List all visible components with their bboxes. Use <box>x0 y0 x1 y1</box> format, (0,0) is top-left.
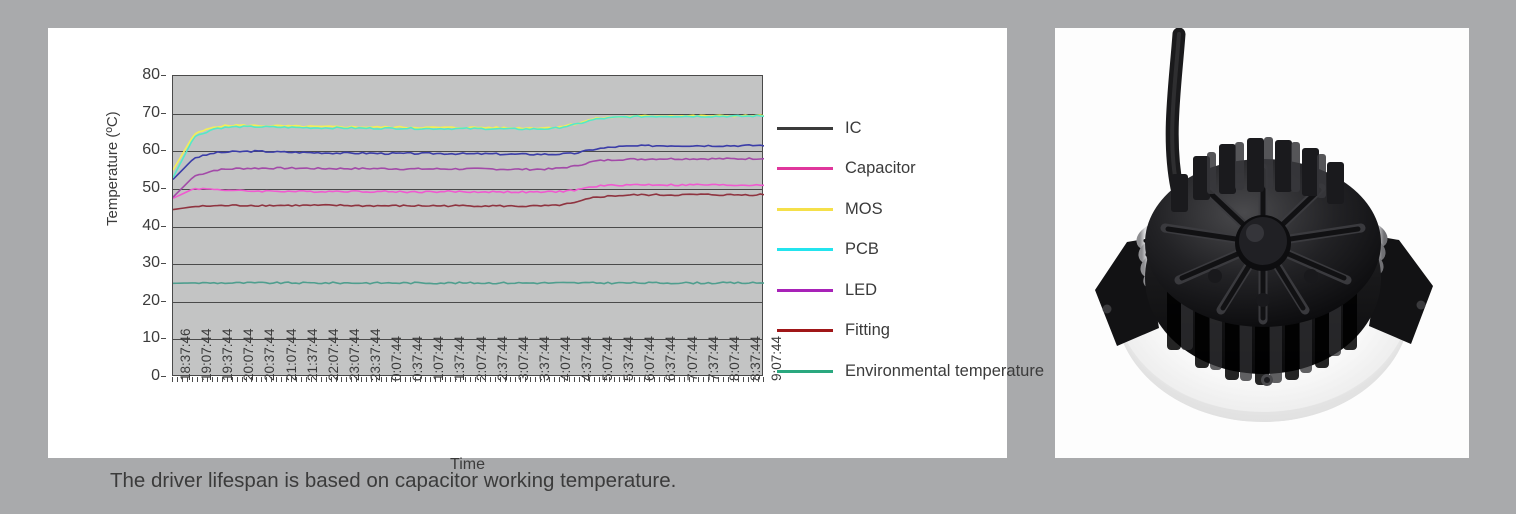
x-tick-mark <box>366 377 367 382</box>
x-tick-label: 6:37:44 <box>663 336 678 381</box>
x-tick-mark <box>286 377 287 382</box>
x-tick-label: 7:07:44 <box>685 336 700 381</box>
x-tick-mark <box>669 377 670 382</box>
y-tick-mark <box>161 150 166 151</box>
x-tick-label: 23:07:44 <box>347 328 362 381</box>
x-tick-label: 8:37:44 <box>748 336 763 381</box>
x-tick-mark <box>679 377 680 382</box>
x-tick-mark <box>376 377 377 382</box>
x-tick-mark <box>649 377 650 382</box>
x-tick-mark <box>584 377 585 382</box>
x-tick-mark <box>197 377 198 382</box>
caption-text: The driver lifespan is based on capacito… <box>110 469 676 493</box>
x-tick-label: 0:07:44 <box>389 336 404 381</box>
legend-swatch <box>777 127 833 130</box>
y-tick-mark <box>161 113 166 114</box>
y-tick-label: 20 <box>142 292 160 310</box>
x-tick-mark <box>554 377 555 382</box>
x-tick-mark <box>530 377 531 382</box>
x-tick-mark <box>276 377 277 382</box>
x-tick-mark <box>604 377 605 382</box>
x-tick-label: 4:37:44 <box>579 336 594 381</box>
x-tick-mark <box>395 377 396 382</box>
legend-swatch <box>777 167 833 170</box>
x-tick-mark <box>251 377 252 382</box>
x-tick-mark <box>291 377 292 382</box>
legend-item-mos[interactable]: MOS <box>777 189 1077 230</box>
x-tick-mark <box>693 377 694 382</box>
x-tick-mark <box>266 377 267 382</box>
x-tick-mark <box>222 377 223 382</box>
legend-label: PCB <box>845 240 879 259</box>
x-tick-mark <box>336 377 337 382</box>
x-tick-mark <box>192 377 193 382</box>
plot-area <box>172 75 763 376</box>
x-tick-mark <box>256 377 257 382</box>
legend-item-pcb[interactable]: PCB <box>777 230 1077 271</box>
x-tick-mark <box>212 377 213 382</box>
x-tick-mark <box>659 377 660 382</box>
x-tick-mark <box>430 377 431 382</box>
y-tick-label: 0 <box>151 367 160 385</box>
x-tick-label: 23:37:44 <box>368 328 383 381</box>
x-tick-mark <box>634 377 635 382</box>
y-tick-label: 50 <box>142 179 160 197</box>
x-tick-mark <box>574 377 575 382</box>
legend-item-led[interactable]: LED <box>777 270 1077 311</box>
y-tick-mark <box>161 338 166 339</box>
x-tick-mark <box>743 377 744 382</box>
x-tick-mark <box>490 377 491 382</box>
y-tick-label: 80 <box>142 66 160 84</box>
x-tick-mark <box>619 377 620 382</box>
legend-swatch <box>777 370 833 373</box>
x-tick-mark <box>435 377 436 382</box>
x-tick-mark <box>326 377 327 382</box>
legend-swatch <box>777 329 833 332</box>
x-tick-mark <box>391 377 392 382</box>
legend-swatch <box>777 289 833 292</box>
x-tick-mark <box>480 377 481 382</box>
x-tick-mark <box>425 377 426 382</box>
x-tick-mark <box>698 377 699 382</box>
x-tick-mark <box>246 377 247 382</box>
led-downlight-heatsink-icon <box>1055 28 1469 458</box>
x-tick-mark <box>182 377 183 382</box>
x-tick-mark <box>341 377 342 382</box>
x-tick-mark <box>356 377 357 382</box>
legend-item-environmental-temperature[interactable]: Environmental temperature <box>777 351 1077 392</box>
x-tick-mark <box>654 377 655 382</box>
x-tick-mark <box>485 377 486 382</box>
x-tick-mark <box>708 377 709 382</box>
legend-label: Fitting <box>845 321 890 340</box>
x-tick-mark <box>217 377 218 382</box>
y-tick-label: 40 <box>142 217 160 235</box>
legend-swatch <box>777 208 833 211</box>
x-tick-label: 20:07:44 <box>241 328 256 381</box>
x-tick-mark <box>624 377 625 382</box>
x-tick-mark <box>371 377 372 382</box>
y-tick-mark <box>161 75 166 76</box>
x-tick-mark <box>386 377 387 382</box>
legend-item-ic[interactable]: IC <box>777 108 1077 149</box>
x-tick-mark <box>738 377 739 382</box>
x-tick-mark <box>450 377 451 382</box>
x-tick-label: 1:37:44 <box>452 336 467 381</box>
x-tick-label: 19:37:44 <box>220 328 235 381</box>
x-tick-mark <box>559 377 560 382</box>
x-tick-mark <box>261 377 262 382</box>
x-tick-label: 8:07:44 <box>727 336 742 381</box>
chart-legend: ICCapacitorMOSPCBLEDFittingEnvironmental… <box>777 108 1077 392</box>
series-line-environmental-temperature <box>173 282 764 284</box>
x-tick-mark <box>520 377 521 382</box>
y-tick-mark <box>161 226 166 227</box>
x-tick-label: 21:37:44 <box>305 328 320 381</box>
x-tick-mark <box>177 377 178 382</box>
x-axis-ticks: 18:37:4619:07:4419:37:4420:07:4420:37:44… <box>172 377 763 457</box>
y-tick-label: 30 <box>142 254 160 272</box>
x-tick-label: 20:37:44 <box>262 328 277 381</box>
y-tick-mark <box>161 376 166 377</box>
x-tick-label: 21:07:44 <box>284 328 299 381</box>
x-tick-mark <box>689 377 690 382</box>
x-tick-mark <box>306 377 307 382</box>
x-tick-mark <box>748 377 749 382</box>
x-tick-mark <box>405 377 406 382</box>
x-tick-mark <box>758 377 759 382</box>
x-tick-mark <box>351 377 352 382</box>
x-tick-mark <box>564 377 565 382</box>
x-tick-mark <box>525 377 526 382</box>
x-tick-mark <box>187 377 188 382</box>
x-tick-mark <box>381 377 382 382</box>
legend-label: IC <box>845 119 862 138</box>
x-tick-mark <box>321 377 322 382</box>
x-tick-mark <box>400 377 401 382</box>
x-tick-mark <box>415 377 416 382</box>
x-tick-mark <box>753 377 754 382</box>
y-axis-ticks: 01020304050607080 <box>126 75 166 376</box>
x-tick-mark <box>684 377 685 382</box>
x-tick-mark <box>535 377 536 382</box>
legend-swatch <box>777 248 833 251</box>
x-tick-mark <box>296 377 297 382</box>
y-tick-label: 70 <box>142 104 160 122</box>
x-tick-label: 22:07:44 <box>326 328 341 381</box>
x-tick-mark <box>361 377 362 382</box>
x-tick-mark <box>505 377 506 382</box>
x-tick-mark <box>495 377 496 382</box>
x-tick-label: 19:07:44 <box>199 328 214 381</box>
legend-label: MOS <box>845 200 883 219</box>
x-tick-mark <box>718 377 719 382</box>
x-tick-mark <box>674 377 675 382</box>
x-tick-label: 7:37:44 <box>706 336 721 381</box>
x-tick-mark <box>202 377 203 382</box>
x-tick-mark <box>445 377 446 382</box>
x-tick-mark <box>331 377 332 382</box>
x-tick-mark <box>301 377 302 382</box>
x-tick-mark <box>410 377 411 382</box>
x-tick-mark <box>271 377 272 382</box>
x-tick-mark <box>440 377 441 382</box>
series-line-mos <box>173 115 764 170</box>
x-tick-mark <box>475 377 476 382</box>
x-tick-mark <box>589 377 590 382</box>
x-tick-label: 5:37:44 <box>621 336 636 381</box>
y-tick-mark <box>161 301 166 302</box>
x-tick-mark <box>664 377 665 382</box>
x-tick-label: 18:37:46 <box>178 328 193 381</box>
x-tick-mark <box>455 377 456 382</box>
x-tick-label: 2:07:44 <box>474 336 489 381</box>
y-tick-mark <box>161 188 166 189</box>
x-tick-mark <box>569 377 570 382</box>
x-tick-label: 5:07:44 <box>600 336 615 381</box>
x-tick-mark <box>763 377 764 382</box>
x-tick-mark <box>515 377 516 382</box>
x-tick-label: 6:07:44 <box>642 336 657 381</box>
x-tick-mark <box>465 377 466 382</box>
x-tick-mark <box>420 377 421 382</box>
x-tick-mark <box>470 377 471 382</box>
legend-label: Capacitor <box>845 159 916 178</box>
series-line-fitting <box>173 194 764 210</box>
chart-panel: Temperature (ºC) 01020304050607080 18:37… <box>48 28 1007 458</box>
x-tick-label: 3:07:44 <box>516 336 531 381</box>
legend-item-capacitor[interactable]: Capacitor <box>777 149 1077 190</box>
x-tick-label: 3:37:44 <box>537 336 552 381</box>
x-tick-mark <box>242 377 243 382</box>
x-tick-mark <box>281 377 282 382</box>
series-line-ic <box>173 145 764 180</box>
product-photo-panel <box>1055 28 1469 458</box>
x-tick-mark <box>723 377 724 382</box>
x-tick-mark <box>733 377 734 382</box>
x-tick-mark <box>316 377 317 382</box>
x-tick-mark <box>510 377 511 382</box>
x-tick-mark <box>599 377 600 382</box>
x-tick-mark <box>614 377 615 382</box>
x-tick-mark <box>639 377 640 382</box>
x-tick-mark <box>460 377 461 382</box>
x-tick-mark <box>311 377 312 382</box>
x-tick-label: 1:07:44 <box>431 336 446 381</box>
x-tick-mark <box>579 377 580 382</box>
legend-item-fitting[interactable]: Fitting <box>777 311 1077 352</box>
x-tick-mark <box>594 377 595 382</box>
y-axis-title: Temperature (ºC) <box>104 111 121 226</box>
y-tick-label: 60 <box>142 141 160 159</box>
x-tick-mark <box>644 377 645 382</box>
x-tick-label: 2:37:44 <box>495 336 510 381</box>
x-tick-mark <box>207 377 208 382</box>
x-tick-mark <box>232 377 233 382</box>
x-tick-mark <box>703 377 704 382</box>
x-tick-mark <box>237 377 238 382</box>
x-tick-mark <box>713 377 714 382</box>
x-tick-mark <box>629 377 630 382</box>
x-tick-mark <box>728 377 729 382</box>
x-tick-mark <box>500 377 501 382</box>
x-tick-mark <box>544 377 545 382</box>
x-tick-mark <box>549 377 550 382</box>
legend-label: Environmental temperature <box>845 362 1044 381</box>
x-tick-mark <box>540 377 541 382</box>
y-tick-label: 10 <box>142 329 160 347</box>
y-tick-mark <box>161 263 166 264</box>
x-tick-label: 4:07:44 <box>558 336 573 381</box>
x-tick-label: 0:37:44 <box>410 336 425 381</box>
legend-label: LED <box>845 281 877 300</box>
x-tick-mark <box>609 377 610 382</box>
x-tick-mark <box>227 377 228 382</box>
x-tick-mark <box>172 377 173 382</box>
x-tick-mark <box>346 377 347 382</box>
